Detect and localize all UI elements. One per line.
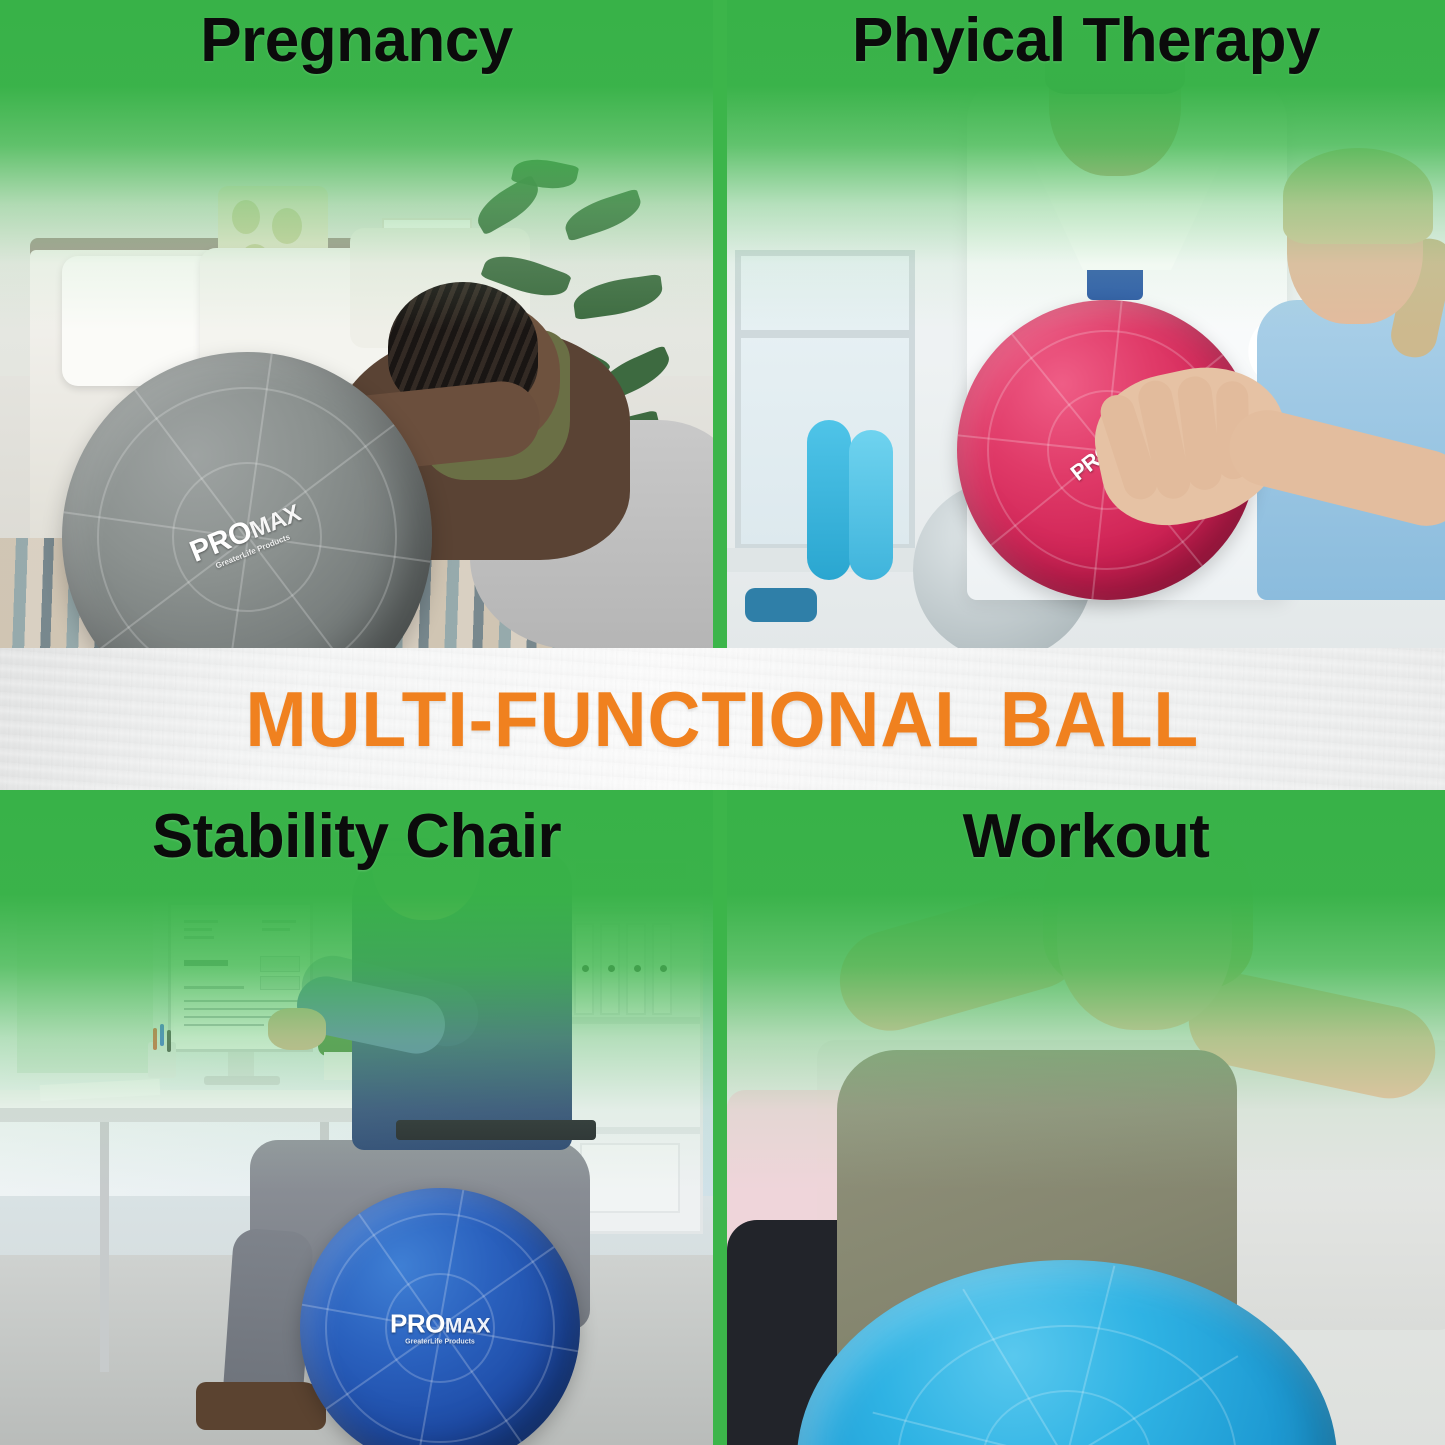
headline-text: MULTI-FUNCTIONAL BALL [246, 674, 1200, 765]
panel-label-workout: Workout [727, 804, 1445, 869]
panel-label-physical-therapy: Phyical Therapy [727, 8, 1445, 73]
bottom-panel-row: PROMAX GreaterLife Products Stability Ch… [0, 790, 1445, 1445]
yoga-mat [807, 420, 851, 580]
brand-max: MAX [445, 1315, 490, 1338]
product-poster: PROMAX GreaterLife Products Pregnancy [0, 0, 1445, 1445]
yoga-mat [849, 430, 893, 580]
panel-pregnancy[interactable]: PROMAX GreaterLife Products Pregnancy [0, 0, 713, 648]
pregnancy-photo: PROMAX GreaterLife Products [0, 0, 713, 648]
workout-photo: PROMAX [727, 790, 1445, 1445]
panel-label-stability-chair: Stability Chair [0, 804, 713, 869]
panel-workout[interactable]: PROMAX Workout [727, 790, 1445, 1445]
physical-therapy-photo: PROMAX [727, 0, 1445, 648]
brand-tagline: GreaterLife Products [390, 1339, 490, 1346]
panel-physical-therapy[interactable]: PROMAX Phyical Therapy [727, 0, 1445, 648]
pen-cup [148, 1042, 176, 1078]
shoe [196, 1382, 326, 1430]
headline-banner: MULTI-FUNCTIONAL BALL [0, 648, 1445, 790]
stability-chair-photo: PROMAX GreaterLife Products [0, 790, 713, 1445]
panel-stability-chair[interactable]: PROMAX GreaterLife Products Stability Ch… [0, 790, 713, 1445]
dumbbell [745, 588, 817, 622]
panel-label-pregnancy: Pregnancy [0, 8, 713, 73]
top-panel-row: PROMAX GreaterLife Products Pregnancy [0, 0, 1445, 648]
brand-pro: PRO [390, 1309, 445, 1339]
